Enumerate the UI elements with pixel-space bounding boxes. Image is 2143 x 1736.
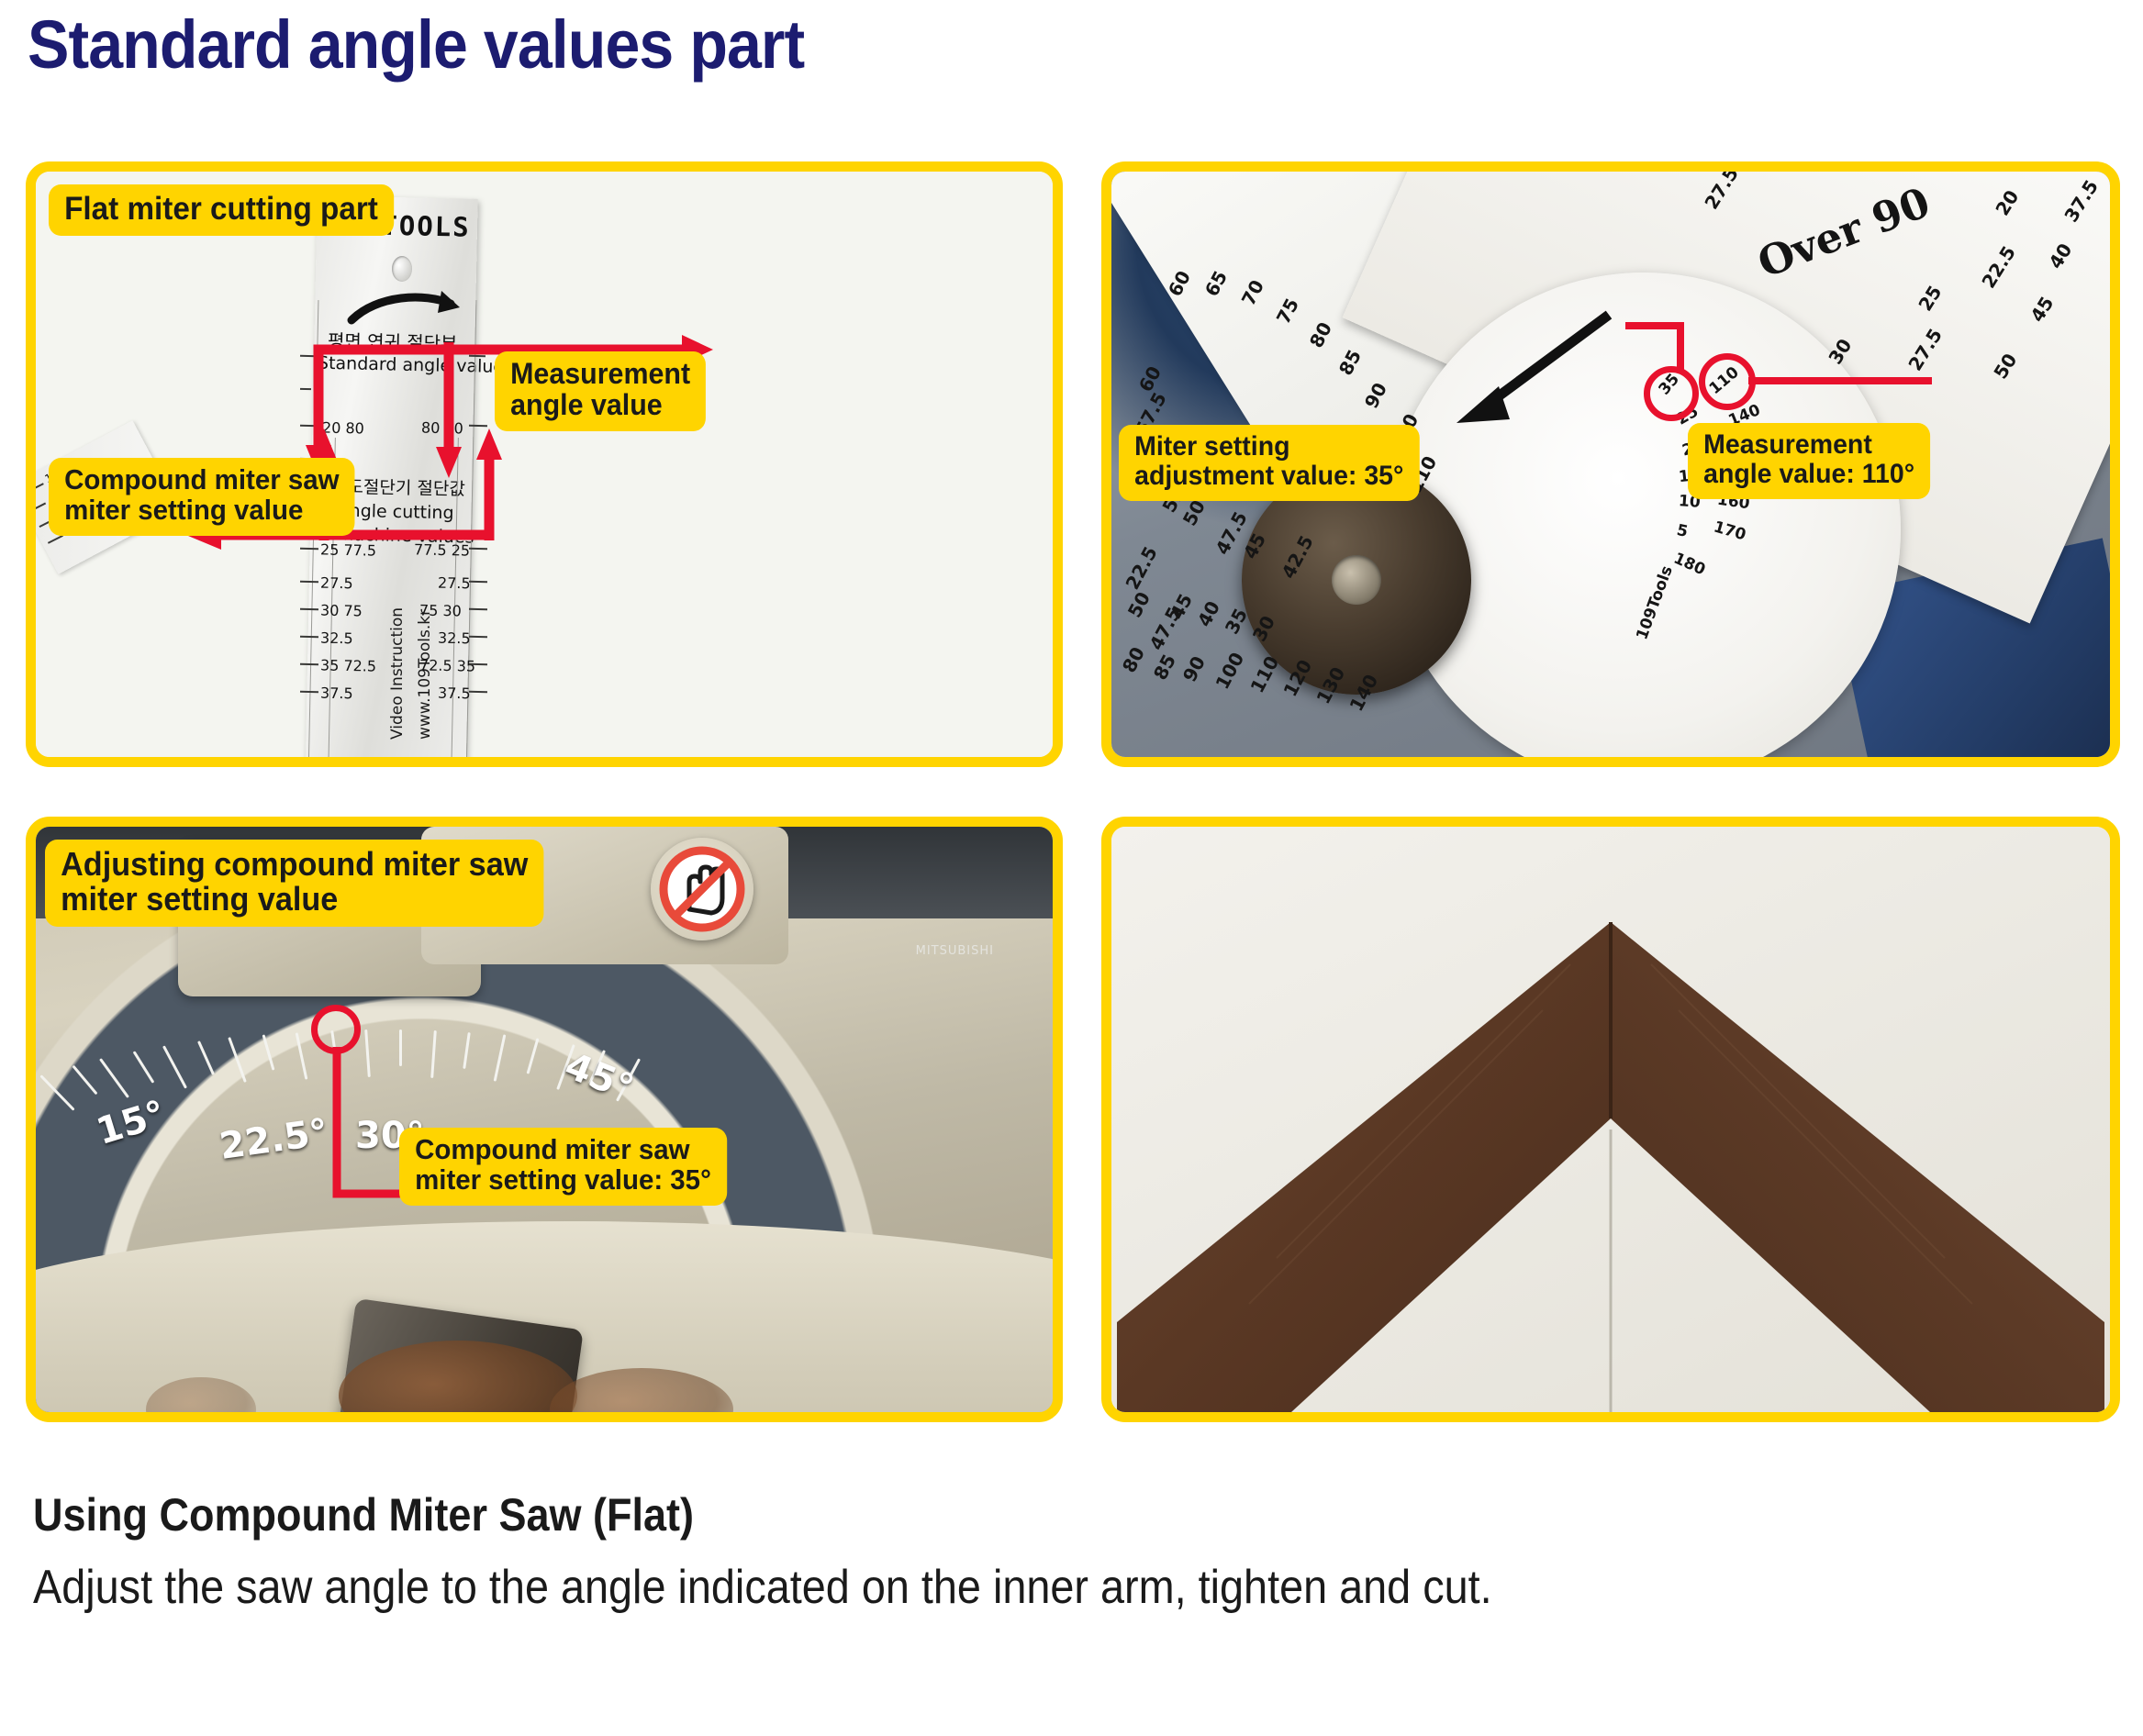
scale-row-2-right: 27.5	[438, 574, 471, 593]
callout-compound-miter-saw-setting-value: Compound miter saw miter setting value	[49, 458, 355, 536]
instruction-sheet: Standard angle values part 10 20 25 109T…	[0, 0, 2143, 1736]
mitered-corner-chevron	[1111, 827, 2110, 1412]
measurement-110-connector	[1748, 366, 1950, 421]
ruler-vertical-text-url: www.109Tools.kr	[416, 542, 434, 740]
red-circle-saw-setting-35	[311, 1005, 361, 1054]
pointer-arrow-icon	[1442, 309, 1616, 428]
callout-adjusting-compound-miter-saw: Adjusting compound miter saw miter setti…	[45, 840, 543, 927]
scale-row-4-left: 32.5	[320, 629, 353, 648]
callout-compound-miter-saw-setting-35: Compound miter saw miter setting value: …	[399, 1128, 727, 1206]
panel-adjusting-compound-miter-saw: 15° 22.5° 30° 45° MITSUBISHI Adjusting c…	[26, 817, 1063, 1422]
scale-row-6-left: 37.5	[320, 684, 353, 703]
scale-row-6-right: 37.5	[438, 684, 471, 703]
callout-miter-setting-adjustment-value: Miter setting adjustment value: 35°	[1119, 425, 1420, 501]
ruler-pivot-hole	[392, 256, 412, 282]
red-circle-setting-35	[1644, 366, 1699, 421]
scale-row-5-right: 72.5 35	[419, 656, 475, 674]
page-title: Standard angle values part	[28, 6, 804, 83]
saw-brand-mark: MITSUBISHI	[916, 944, 994, 958]
panel-1-header-label: Flat miter cutting part	[49, 184, 394, 236]
ruler-vertical-text-video: Video Instruction	[388, 542, 407, 740]
panel-flat-miter-cutting-part: 10 20 25 109TOOLS 평면 연귀 절단부 Standard ang…	[26, 161, 1063, 767]
footer-heading: Using Compound Miter Saw (Flat)	[33, 1488, 694, 1541]
footer-body: Adjust the saw angle to the angle indica…	[33, 1560, 1492, 1615]
rotation-arrow-icon	[346, 289, 465, 329]
panel-angle-finder: Over 90 60 60 65 70 75 80 85 90 100 110 …	[1101, 161, 2120, 767]
scale-row-5-left: 35 72.5	[320, 656, 376, 674]
scale-row-4-right: 32.5	[438, 629, 471, 648]
callout-measurement-angle-value-110: Measurement angle value: 110°	[1688, 423, 1930, 499]
red-circle-measure-110	[1699, 353, 1756, 410]
callout-measurement-angle-value: Measurement angle value	[495, 351, 706, 431]
panel-finished-mitered-corner	[1101, 817, 2120, 1422]
scale-row-3-right: 75 30	[419, 602, 462, 620]
no-hands-warning-icon	[651, 838, 753, 940]
scale-row-2-left: 27.5	[320, 574, 353, 593]
scale-row-3-left: 30 75	[320, 602, 363, 620]
